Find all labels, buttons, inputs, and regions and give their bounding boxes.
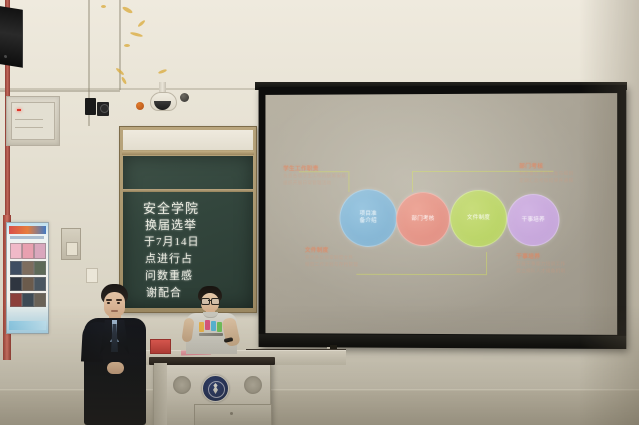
floor-shadow (0, 305, 639, 425)
poster-cell (10, 243, 22, 259)
blackboard-rail (122, 151, 254, 155)
annotation-body-line: 制定量化考核标准与细则 (519, 171, 573, 177)
annotation-body-line: 组织开展日常管理活动 (283, 180, 346, 186)
annotation-title: 干事培养 (516, 252, 565, 260)
wall-seam (0, 90, 120, 92)
speaker-led (4, 55, 7, 58)
poster-cell (10, 261, 22, 275)
chalk-line-5: 问数重感 (145, 267, 193, 283)
poster-headline (9, 226, 46, 234)
circle-blue: 项目准 备介绍 (340, 189, 398, 247)
circle-purple-label: 干事培养 (522, 216, 545, 223)
poster-subline (10, 236, 44, 239)
panel-slot (15, 119, 43, 120)
chalk-line-4: 点进行占 (145, 250, 193, 266)
wall-speaker-icon (0, 6, 23, 68)
poster-cell (34, 261, 46, 275)
circle-red: 部门考核 (396, 192, 450, 246)
chalk-line-2: 换届选举 (145, 216, 197, 233)
slide-content: 项目准 备介绍 部门考核 文件制度 干事培养 学生工作职责 负责各项学生工作的统… (265, 93, 617, 335)
annotation-body-line: 定期汇总考核结果并通报 (519, 178, 573, 184)
chalk-line-3: 于7月14日 (144, 233, 200, 249)
circle-red-label: 部门考核 (411, 216, 434, 223)
projected-slide: 项目准 备介绍 部门考核 文件制度 干事培养 学生工作职责 负责各项学生工作的统… (265, 93, 617, 335)
presenter-brow (106, 299, 112, 301)
light-switch[interactable] (86, 268, 98, 283)
annotation-body-line: 完善各类规章制度文件 (305, 255, 358, 261)
glasses-icon (211, 298, 220, 305)
wall-seam (119, 0, 121, 90)
annotation-bottom-left: 文件制度 完善各类规章制度文件 规范工作流程与存档管理 (305, 246, 358, 268)
annotation-top-right: 部门考核 制定量化考核标准与细则 定期汇总考核结果并通报 (519, 162, 573, 184)
poster-cell (34, 243, 46, 259)
wall-sensor-icon (100, 104, 109, 113)
poster-cell (22, 261, 34, 275)
junction-box-face (66, 242, 78, 256)
paint-stain (124, 44, 130, 47)
paint-stain (101, 5, 106, 8)
chalk-line-6: 谢配合 (146, 284, 182, 300)
annotation-title: 学生工作职责 (283, 164, 346, 172)
circle-blue-label: 项目准 备介绍 (360, 211, 377, 225)
annotation-bottom-right: 干事培养 开展干事能力培训工作 建立梯队人才储备机制 (516, 252, 565, 274)
presenter-eye (117, 302, 120, 304)
poster-cell (10, 277, 22, 291)
glasses-bridge (208, 300, 211, 301)
electrical-panel[interactable] (6, 96, 60, 146)
poster-cell (22, 243, 34, 259)
presenter-eye (107, 302, 110, 304)
classroom-photo: 安全学院 换届选举 于7月14日 点进行占 问数重感 谢配合 项目准 备介绍 部… (0, 0, 639, 425)
panel-slot (15, 127, 43, 128)
circle-green-label: 文件制度 (467, 215, 490, 222)
wall-seam (0, 88, 260, 90)
annotation-body-line: 规范工作流程与存档管理 (305, 262, 358, 268)
annotation-title: 部门考核 (519, 162, 573, 170)
annotation-body-line: 开展干事能力培训工作 (516, 261, 565, 267)
wall-sensor-icon (180, 93, 189, 102)
annotation-body-line: 建立梯队人才储备机制 (516, 268, 565, 274)
annotation-top-left: 学生工作职责 负责各项学生工作的统筹安排 组织开展日常管理活动 (283, 164, 346, 186)
poster-cell (34, 277, 46, 291)
chalk-line-1: 安全学院 (143, 198, 199, 217)
wall-device-icon (85, 98, 96, 115)
connector-bottom-left (356, 252, 487, 275)
circle-purple: 干事培养 (507, 194, 559, 246)
blackboard-top-strip (123, 130, 253, 150)
annotation-title: 文件制度 (305, 246, 358, 254)
circle-green: 文件制度 (450, 190, 507, 247)
orange-knob-icon (136, 102, 144, 110)
blackboard-divider (123, 189, 253, 192)
presenter-brow (116, 299, 122, 301)
annotation-body-line: 负责各项学生工作的统筹安排 (283, 173, 346, 179)
junction-box[interactable] (61, 228, 81, 260)
panel-door (11, 102, 55, 140)
poster-cell (22, 277, 34, 291)
panel-power-led (17, 109, 21, 111)
